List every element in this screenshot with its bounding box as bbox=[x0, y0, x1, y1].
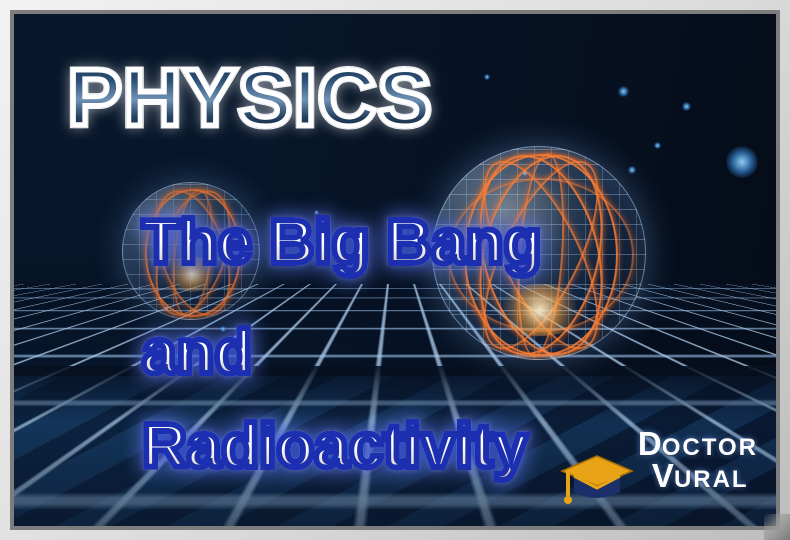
poster-frame-inner: PHYSICS PHYSICS The Big Bang and Radioac… bbox=[10, 10, 780, 530]
title-line-1: The Big Bang bbox=[142, 212, 542, 274]
brand-line-2-rest: URAL bbox=[674, 466, 749, 493]
subject-label: PHYSICS bbox=[68, 58, 433, 138]
title-line-3: Radioactivity bbox=[142, 416, 528, 478]
glow-particle bbox=[682, 102, 691, 111]
brand-line-1-rest: OCTOR bbox=[662, 434, 758, 461]
graduation-cap-icon bbox=[560, 450, 634, 508]
glow-particle bbox=[484, 74, 490, 80]
sphere-core-glow bbox=[494, 284, 586, 336]
glow-particle bbox=[628, 166, 636, 174]
brand-line-1: DOCTOR bbox=[638, 428, 758, 460]
glow-particle bbox=[726, 146, 758, 178]
glow-particle bbox=[618, 86, 629, 97]
brand-line-2: VURAL bbox=[652, 460, 758, 492]
poster-canvas: PHYSICS PHYSICS The Big Bang and Radioac… bbox=[14, 14, 776, 526]
glow-particle bbox=[654, 142, 661, 149]
brand-line-2-initial: V bbox=[652, 457, 674, 494]
brand-logo[interactable]: DOCTOR VURAL bbox=[568, 428, 758, 504]
brand-wordmark: DOCTOR VURAL bbox=[638, 428, 758, 491]
poster-frame: PHYSICS PHYSICS The Big Bang and Radioac… bbox=[0, 0, 790, 540]
title-line-2: and bbox=[142, 322, 252, 384]
